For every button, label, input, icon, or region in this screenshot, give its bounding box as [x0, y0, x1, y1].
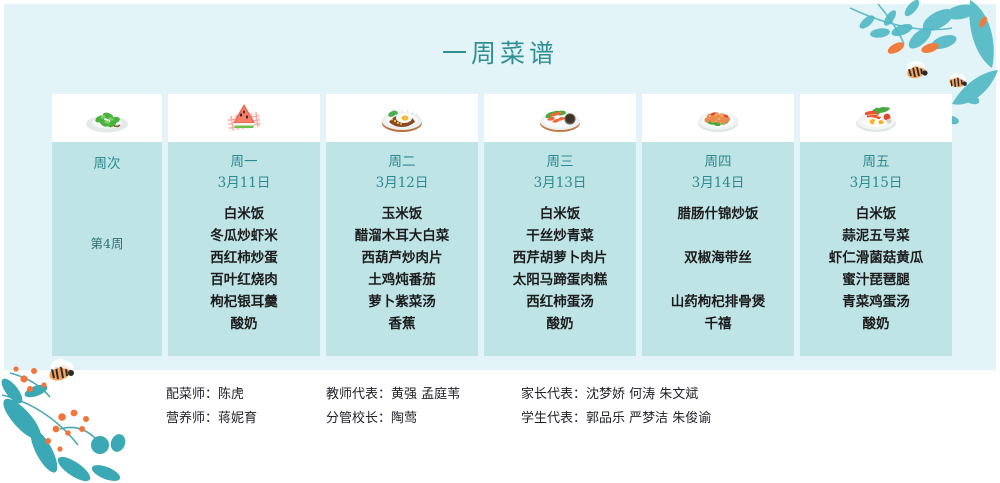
weekly-menu-table: 周次 第4周 — [52, 94, 952, 356]
table-column-tuesday: 周二 3月12日 玉米饭 醋溜木耳大白菜 西葫芦炒肉片 土鸡炖番茄 萝卜紫菜汤 … — [326, 94, 478, 356]
dish-item: 西芹胡萝卜肉片 — [513, 247, 608, 269]
dish-item: 山药枸杞排骨煲 — [671, 291, 766, 313]
footer-column-representatives: 家长代表：沈梦娇 何涛 朱文斌 学生代表：郭品乐 严梦洁 朱俊谕 — [521, 383, 841, 431]
dish-item: 青菜鸡蛋汤 — [842, 291, 910, 313]
dish-item: 白米饭 — [856, 203, 897, 225]
table-column-wednesday: 周三 3月13日 白米饭 干丝炒青菜 西芹胡萝卜肉片 太阳马蹄蛋肉糕 西红柿蛋汤… — [484, 94, 636, 356]
footer-line: 学生代表：郭品乐 严梦洁 朱俊谕 — [521, 407, 841, 431]
day-date: 3月15日 — [850, 173, 903, 194]
dish-item: 西红柿炒蛋 — [210, 247, 278, 269]
day-date: 3月14日 — [692, 173, 745, 194]
dish-item: 香蕉 — [389, 313, 416, 335]
dish-item: 白米饭 — [540, 203, 581, 225]
dish-item: 百叶红烧肉 — [210, 269, 278, 291]
day-cell: 周三 3月13日 白米饭 干丝炒青菜 西芹胡萝卜肉片 太阳马蹄蛋肉糕 西红柿蛋汤… — [484, 142, 636, 356]
dish-list: 白米饭 蒜泥五号菜 虾仁滑菌菇黄瓜 蜜汁琵琶腿 青菜鸡蛋汤 酸奶 — [804, 203, 948, 335]
watermelon-slice-icon — [168, 94, 320, 142]
dish-item: 西红柿蛋汤 — [526, 291, 594, 313]
footer-column-teachers: 教师代表：黄强 孟庭苇 分管校长：陶莺 — [326, 383, 521, 431]
dish-item: 西葫芦炒肉片 — [362, 247, 443, 269]
menu-poster: 一周菜谱 — [0, 0, 1000, 483]
dish-list: 玉米饭 醋溜木耳大白菜 西葫芦炒肉片 土鸡炖番茄 萝卜紫菜汤 香蕉 — [330, 203, 474, 335]
footer-line: 营养师：蒋妮育 — [166, 407, 326, 431]
plate-of-greens-icon — [52, 94, 162, 142]
dish-item: 白米饭 — [224, 203, 265, 225]
page-title: 一周菜谱 — [0, 34, 1000, 70]
dish-item: 玉米饭 — [382, 203, 423, 225]
week-cell: 周次 第4周 — [52, 142, 162, 356]
table-column-week: 周次 第4周 — [52, 94, 162, 356]
dish-item: 土鸡炖番茄 — [368, 269, 436, 291]
dish-item: 腊肠什锦炒饭 — [678, 203, 759, 225]
dish-item: 千禧 — [705, 313, 732, 335]
dish-item: 太阳马蹄蛋肉糕 — [513, 269, 608, 291]
dish-list: 白米饭 冬瓜炒虾米 西红柿炒蛋 百叶红烧肉 枸杞银耳羹 酸奶 — [172, 203, 316, 335]
dish-list: 腊肠什锦炒饭 双椒海带丝 山药枸杞排骨煲 千禧 — [646, 203, 790, 335]
day-date: 3月11日 — [218, 173, 271, 194]
day-name: 周一 — [231, 152, 258, 173]
dish-item: 虾仁滑菌菇黄瓜 — [829, 247, 924, 269]
day-name: 周二 — [389, 152, 416, 173]
dish-item: 冬瓜炒虾米 — [210, 225, 278, 247]
day-cell: 周二 3月12日 玉米饭 醋溜木耳大白菜 西葫芦炒肉片 土鸡炖番茄 萝卜紫菜汤 … — [326, 142, 478, 356]
shrimp-plate-icon — [484, 94, 636, 142]
week-header-label: 周次 — [94, 154, 121, 175]
day-date: 3月12日 — [376, 173, 429, 194]
dish-item: 酸奶 — [231, 313, 258, 335]
day-name: 周五 — [863, 152, 890, 173]
table-column-friday: 周五 3月15日 白米饭 蒜泥五号菜 虾仁滑菌菇黄瓜 蜜汁琵琶腿 青菜鸡蛋汤 酸… — [800, 94, 952, 356]
dish-item: 蒜泥五号菜 — [842, 225, 910, 247]
dish-item: 醋溜木耳大白菜 — [355, 225, 450, 247]
dish-item: 萝卜紫菜汤 — [368, 291, 436, 313]
dish-item: 干丝炒青菜 — [526, 225, 594, 247]
stir-fry-plate-icon — [642, 94, 794, 142]
dish-item: 枸杞银耳羹 — [210, 291, 278, 313]
day-cell: 周五 3月15日 白米饭 蒜泥五号菜 虾仁滑菌菇黄瓜 蜜汁琵琶腿 青菜鸡蛋汤 酸… — [800, 142, 952, 356]
dish-item: 蜜汁琵琶腿 — [842, 269, 910, 291]
day-cell: 周四 3月14日 腊肠什锦炒饭 双椒海带丝 山药枸杞排骨煲 千禧 — [642, 142, 794, 356]
footer-line: 家长代表：沈梦娇 何涛 朱文斌 — [521, 383, 841, 407]
dish-item: 酸奶 — [863, 313, 890, 335]
footer-line: 配菜师：陈虎 — [166, 383, 326, 407]
footer-line: 教师代表：黄强 孟庭苇 — [326, 383, 521, 407]
day-date: 3月13日 — [534, 173, 587, 194]
day-cell: 周一 3月11日 白米饭 冬瓜炒虾米 西红柿炒蛋 百叶红烧肉 枸杞银耳羹 酸奶 — [168, 142, 320, 356]
dish-list: 白米饭 干丝炒青菜 西芹胡萝卜肉片 太阳马蹄蛋肉糕 西红柿蛋汤 酸奶 — [488, 203, 632, 335]
footer-column-staff: 配菜师：陈虎 营养师：蒋妮育 — [166, 383, 326, 431]
table-column-monday: 周一 3月11日 白米饭 冬瓜炒虾米 西红柿炒蛋 百叶红烧肉 枸杞银耳羹 酸奶 — [168, 94, 320, 356]
signature-footer: 配菜师：陈虎 营养师：蒋妮育 教师代表：黄强 孟庭苇 分管校长：陶莺 家长代表：… — [0, 383, 1000, 431]
footer-line: 分管校长：陶莺 — [326, 407, 521, 431]
day-name: 周三 — [547, 152, 574, 173]
fried-egg-rice-plate-icon — [326, 94, 478, 142]
day-name: 周四 — [705, 152, 732, 173]
dish-item: 双椒海带丝 — [684, 247, 752, 269]
week-number-value: 第4周 — [91, 233, 124, 252]
dish-item: 酸奶 — [547, 313, 574, 335]
table-column-thursday: 周四 3月14日 腊肠什锦炒饭 双椒海带丝 山药枸杞排骨煲 千禧 — [642, 94, 794, 356]
breakfast-plate-icon — [800, 94, 952, 142]
